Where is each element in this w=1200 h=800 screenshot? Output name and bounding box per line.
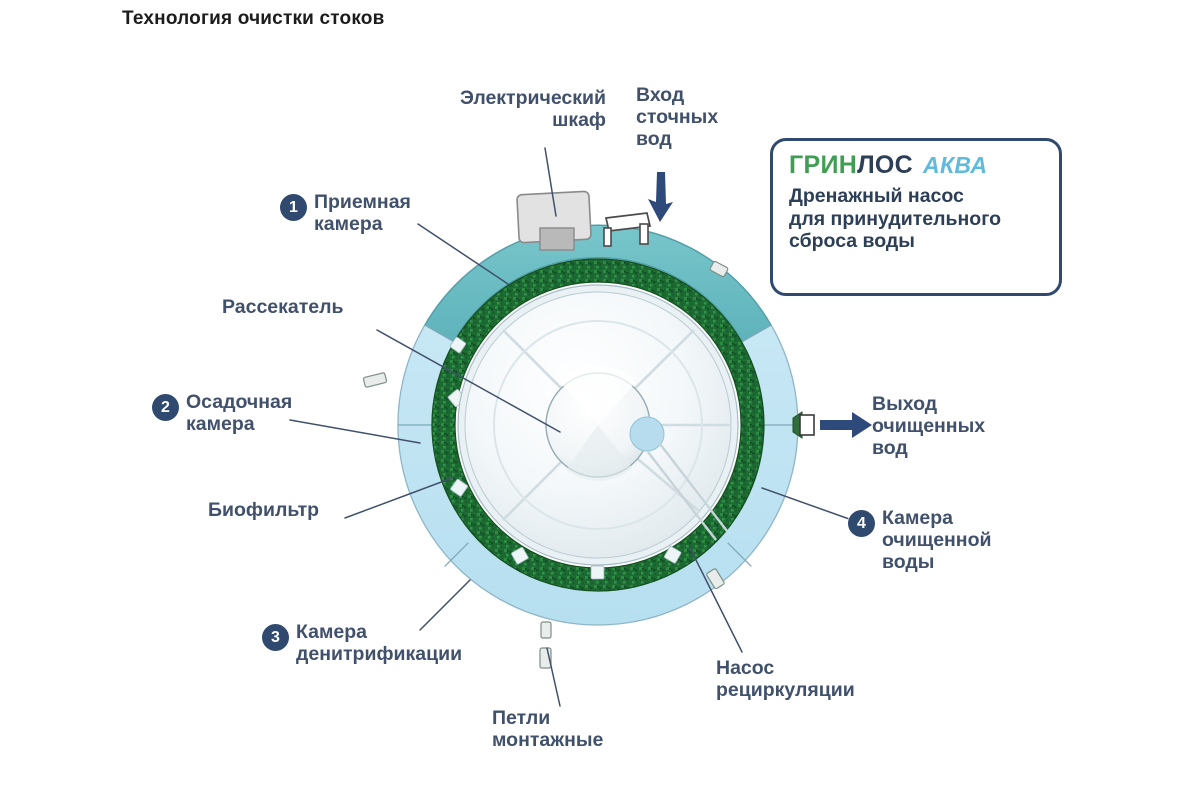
waste-inlet-arrow [648, 172, 673, 222]
badge-number-4: 4 [848, 510, 875, 537]
clean-water-outlet [793, 412, 814, 438]
diagram-canvas: Технология очистки стоков [0, 0, 1200, 800]
label-clean-water-outlet: Выход очищенных вод [872, 394, 1052, 459]
callout-4-label: Камера очищенной воды [882, 508, 992, 573]
badge-number-2: 2 [152, 394, 179, 421]
label-waste-inlet: Вход сточных вод [636, 85, 746, 150]
callout-3-denitrification-chamber: 3 Камера денитрификации [262, 622, 462, 666]
label-mounting-loops: Петли монтажные [492, 708, 692, 752]
label-distributor: Рассекатель [222, 297, 422, 319]
center-dome [458, 285, 738, 565]
product-description: Дренажный насос для принудительного сбро… [789, 185, 1045, 253]
callout-2-settling-chamber: 2 Осадочная камера [152, 392, 292, 436]
badge-number-3: 3 [262, 624, 289, 651]
brand-part-los: ЛОС [857, 151, 913, 179]
callout-1-receiving-chamber: 1 Приемная камера [280, 192, 411, 236]
callout-3-label: Камера денитрификации [296, 622, 462, 666]
mounting-loops [541, 622, 551, 638]
label-recirculation-pump: Насос рециркуляции [716, 658, 936, 702]
label-electrical-cabinet: Электрический шкаф [418, 88, 606, 132]
label-biofilter: Биофильтр [208, 500, 408, 522]
brand-logo: ГРИНЛОСАКВА [789, 153, 1045, 178]
callout-4-clean-water-chamber: 4 Камера очищенной воды [848, 508, 992, 573]
brand-part-grin: ГРИН [789, 151, 857, 179]
product-badge: ГРИНЛОСАКВА Дренажный насос для принудит… [770, 138, 1062, 296]
clean-water-outlet-arrow [820, 412, 872, 438]
badge-number-1: 1 [280, 194, 307, 221]
callout-1-label: Приемная камера [314, 192, 411, 236]
callout-2-label: Осадочная камера [186, 392, 292, 436]
brand-part-akva: АКВА [923, 152, 987, 178]
